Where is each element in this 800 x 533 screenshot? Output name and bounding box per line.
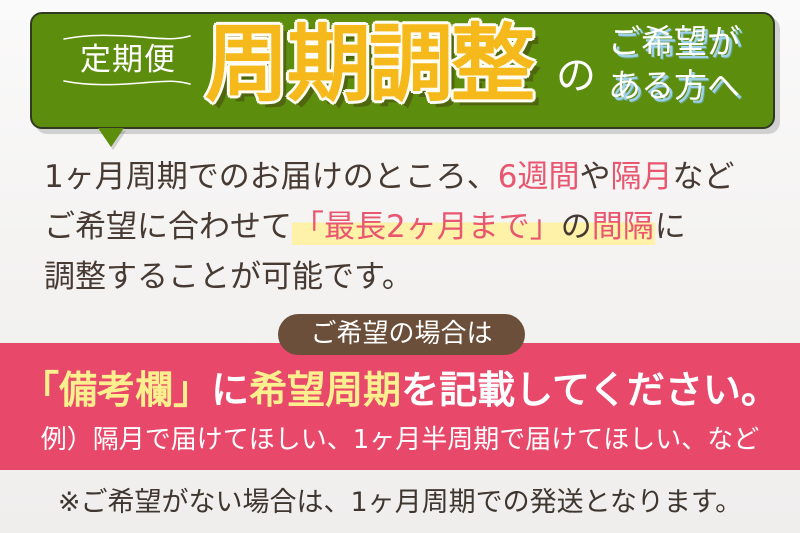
wave-rule-top [63, 34, 191, 41]
headline-subtitle-line1: ご希望が [608, 20, 768, 64]
wave-rule-bottom [63, 79, 191, 86]
body-paragraph: 1ヶ月周期でのお届けのところ、6週間や隔月など ご希望に合わせて「最長2ヶ月まで… [44, 152, 774, 302]
body-emphasis-max-two-months: 「最長2ヶ月まで」 [293, 209, 561, 245]
body-highlight-band: 「最長2ヶ月まで」の間隔 [292, 209, 655, 245]
pink-example-text: 例）隔月で届けてほしい、1ヶ月半周期で届けてほしい、など [0, 422, 800, 458]
body-text-segment: の [561, 209, 592, 245]
request-badge: ご希望の場合は [278, 314, 525, 355]
pink-text-segment: を記載してください。 [401, 368, 779, 412]
pink-text-segment: に [211, 368, 249, 412]
footer-note: ※ご希望がない場合は、1ヶ月周期での発送となります。 [0, 484, 800, 522]
body-emphasis-interval: 間隔 [592, 209, 654, 245]
body-line-2: ご希望に合わせて「最長2ヶ月まで」の間隔に [44, 202, 774, 252]
body-line-1: 1ヶ月周期でのお届けのところ、6週間や隔月など [44, 152, 774, 202]
headline-particle: の [556, 52, 596, 100]
body-emphasis-every-other-month: 隔月 [610, 159, 672, 195]
body-text-segment: 1ヶ月周期でのお届けのところ、 [44, 159, 498, 195]
body-line-3: 調整することが可能です。 [44, 252, 774, 302]
pink-emphasis-desired-cycle: 希望周期 [249, 368, 401, 412]
body-text-segment: に [655, 209, 686, 245]
subscription-tag: 定期便 [63, 34, 193, 86]
speech-bubble-tail [98, 128, 124, 147]
body-emphasis-six-weeks: 6週間 [498, 159, 580, 195]
headline-subtitle: ご希望が ある方へ [608, 20, 768, 108]
body-text-segment: ご希望に合わせて [44, 209, 292, 245]
body-text-segment: など [672, 159, 734, 195]
headline-main-title: 周期調整 [205, 14, 533, 114]
banner-canvas: 定期便 周期調整 の ご希望が ある方へ 1ヶ月周期でのお届けのところ、6週間や… [0, 0, 800, 533]
pink-headline: 「備考欄」に希望周期を記載してください。 [0, 364, 800, 416]
subscription-tag-label: 定期便 [63, 41, 193, 79]
pink-emphasis-remarks-field: 「備考欄」 [21, 368, 211, 412]
headline-subtitle-line2: ある方へ [608, 64, 768, 108]
body-text-segment: や [579, 159, 610, 195]
